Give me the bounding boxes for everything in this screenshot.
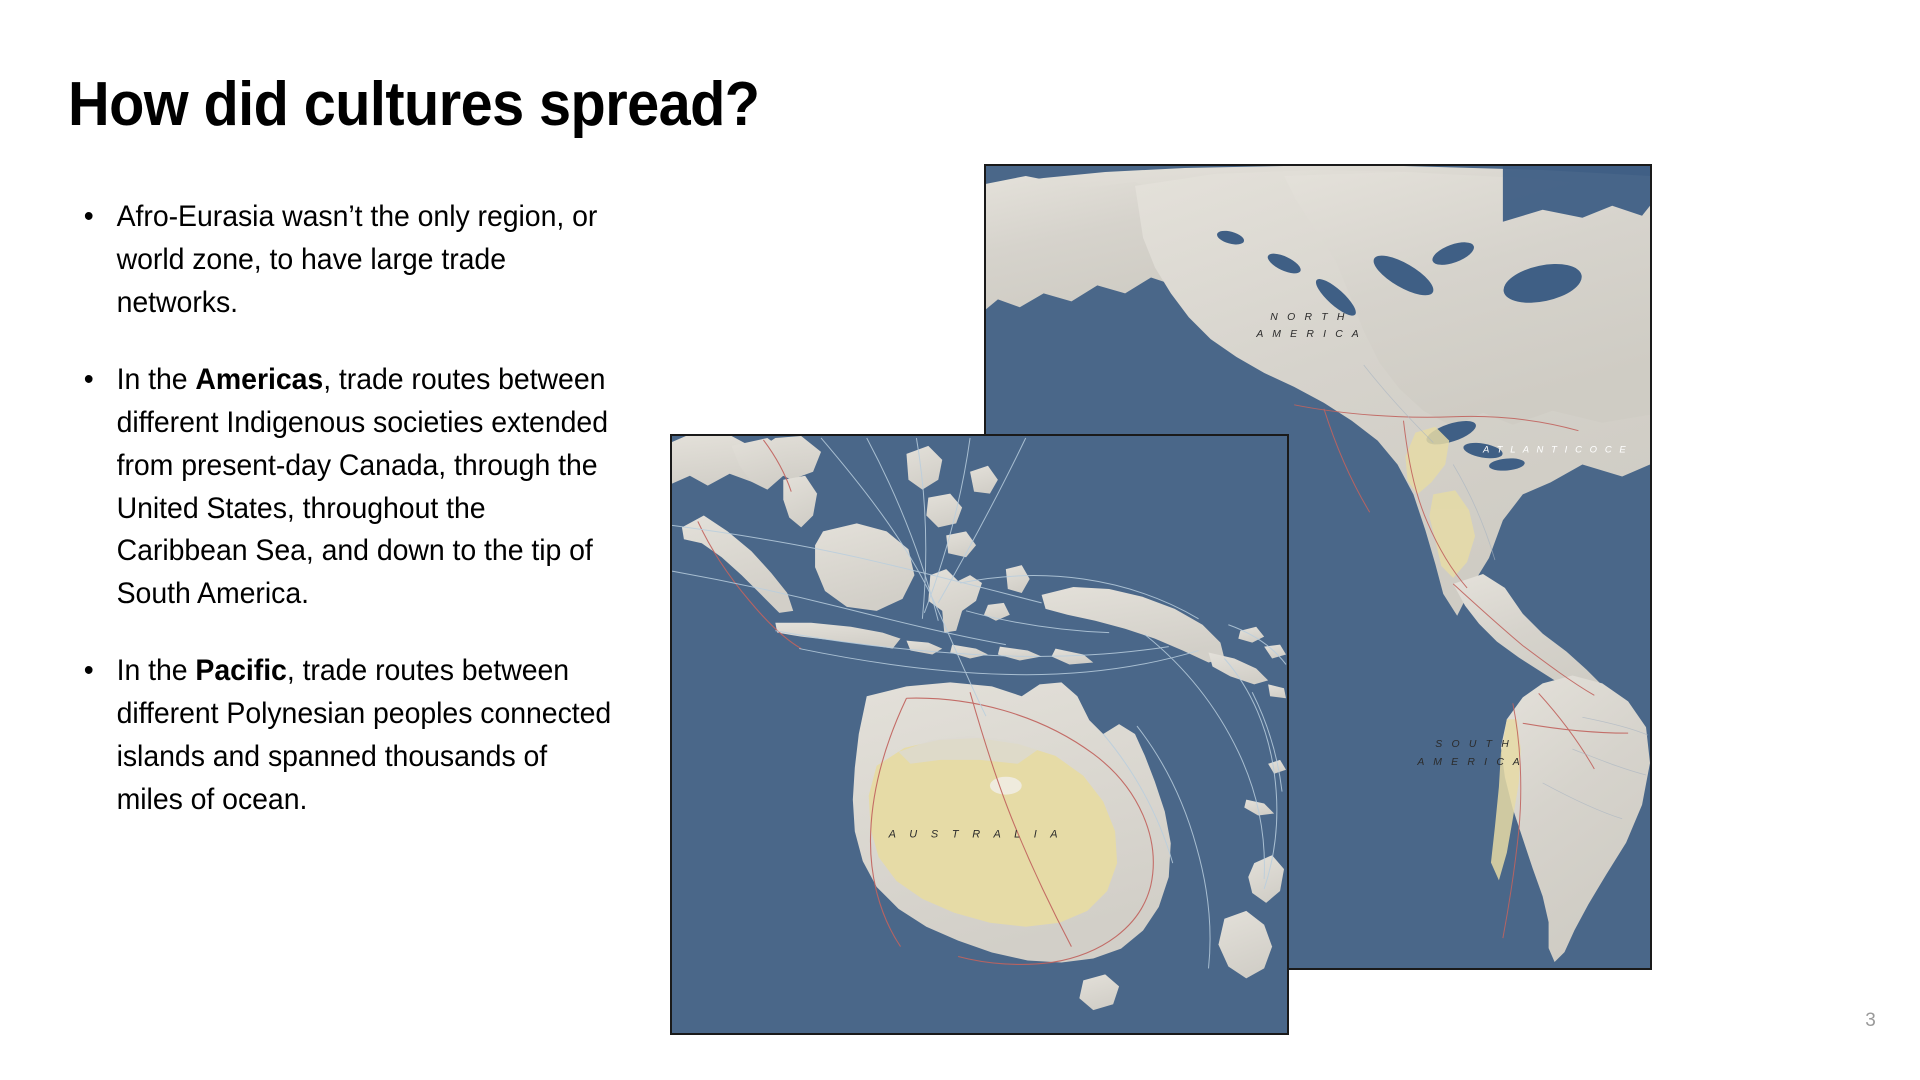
- page-number: 3: [1865, 1010, 1876, 1032]
- bullet-segment: Afro-Eurasia wasn’t the only region, or …: [117, 200, 598, 319]
- pacific-map-svg: A U S T R A L I A: [672, 436, 1287, 1033]
- label-australia: A U S T R A L I A: [888, 828, 1063, 840]
- bullet-text-3: In the Pacific, trade routes between dif…: [117, 654, 612, 816]
- list-item: • In the Pacific, trade routes between d…: [78, 650, 618, 822]
- bullet-list: • Afro-Eurasia wasn’t the only region, o…: [78, 196, 638, 822]
- bullet-marker: •: [84, 650, 94, 693]
- bullet-marker: •: [84, 196, 94, 239]
- pacific-map-image: A U S T R A L I A: [670, 434, 1289, 1035]
- bullet-segment: In the: [117, 654, 196, 687]
- bullet-marker: •: [84, 359, 94, 402]
- list-item: • In the Americas, trade routes between …: [78, 359, 618, 617]
- slide-canvas: How did cultures spread? • Afro-Eurasia …: [0, 0, 1920, 1080]
- bullet-segment: In the: [117, 363, 196, 396]
- list-item: • Afro-Eurasia wasn’t the only region, o…: [78, 196, 618, 325]
- label-south-america: A M E R I C A: [1416, 757, 1523, 768]
- bullet-segment-bold-pacific: Pacific: [195, 654, 286, 687]
- label-south: S O U T H: [1435, 739, 1512, 750]
- bullet-segment-bold-americas: Americas: [195, 363, 323, 396]
- bullet-text-1: Afro-Eurasia wasn’t the only region, or …: [117, 200, 598, 319]
- label-north: N O R T H: [1270, 312, 1347, 323]
- label-atlantic-ocean: A T L A N T I C O C E: [1482, 445, 1628, 456]
- label-north-america: A M E R I C A: [1255, 329, 1362, 340]
- page-title: How did cultures spread?: [68, 68, 998, 141]
- bullet-segment: , trade routes between different Indigen…: [117, 363, 608, 611]
- bullet-text-2: In the Americas, trade routes between di…: [117, 363, 608, 611]
